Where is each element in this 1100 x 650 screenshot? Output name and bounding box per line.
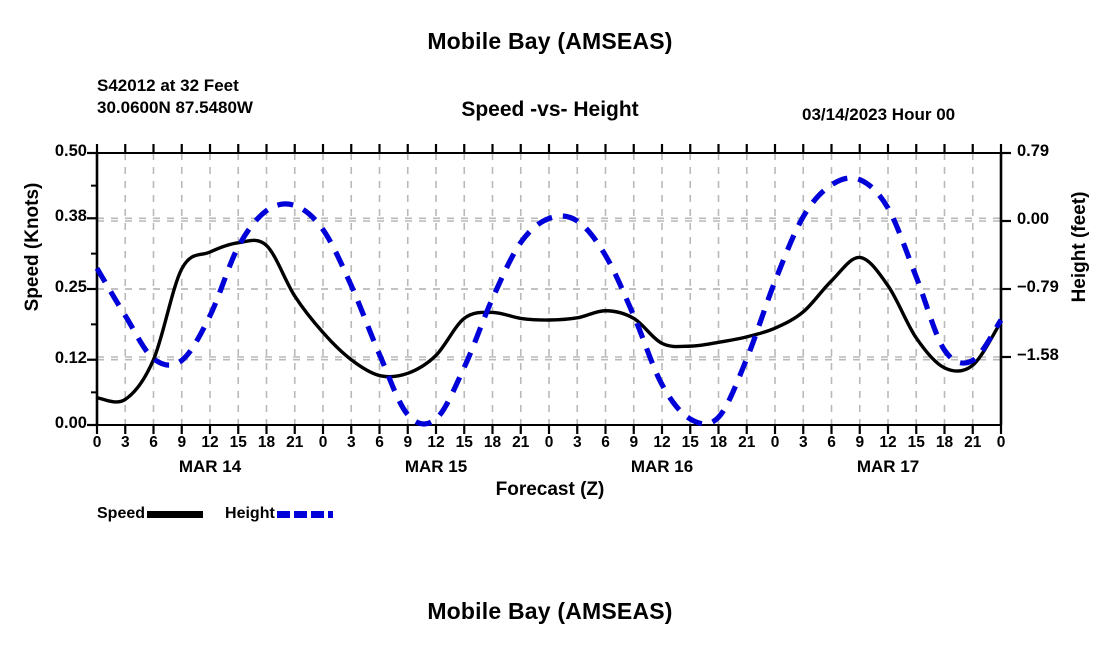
x-axis-tick-label: 18 (478, 434, 508, 452)
y-axis-right-title: Height (feet) (1069, 162, 1091, 332)
y-axis-right-tick-label: 0.00 (1017, 210, 1077, 229)
legend-item-speed: Speed (97, 505, 225, 523)
x-axis-day-label: MAR 15 (366, 457, 506, 477)
legend-swatch-height-icon (277, 511, 333, 518)
x-axis-tick-label: 0 (986, 434, 1016, 452)
x-axis-tick-label: 21 (280, 434, 310, 452)
x-axis-tick-label: 18 (930, 434, 960, 452)
x-axis-tick-label: 18 (704, 434, 734, 452)
x-axis-tick-label: 21 (958, 434, 988, 452)
x-axis-tick-label: 6 (817, 434, 847, 452)
x-axis-tick-label: 21 (506, 434, 536, 452)
x-axis-tick-label: 0 (82, 434, 112, 452)
x-axis-tick-label: 12 (195, 434, 225, 452)
x-axis-tick-label: 15 (675, 434, 705, 452)
legend-item-height: Height (225, 505, 355, 523)
y-axis-right-tick-label: 0.79 (1017, 142, 1077, 161)
x-axis-tick-label: 12 (421, 434, 451, 452)
x-axis-tick-label: 12 (873, 434, 903, 452)
y-axis-left-tick-label: 0.25 (27, 278, 87, 297)
y-axis-left-title: Speed (Knots) (22, 162, 44, 332)
x-axis-day-label: MAR 17 (818, 457, 958, 477)
x-axis-tick-label: 3 (788, 434, 818, 452)
y-axis-left-tick-label: 0.50 (27, 142, 87, 161)
chart-page: Mobile Bay (AMSEAS) S42012 at 32 Feet 30… (0, 0, 1100, 650)
x-axis-tick-label: 3 (336, 434, 366, 452)
page-title-bottom: Mobile Bay (AMSEAS) (0, 598, 1100, 625)
x-axis-tick-label: 0 (534, 434, 564, 452)
x-axis-tick-label: 18 (252, 434, 282, 452)
x-axis-tick-label: 15 (223, 434, 253, 452)
legend-label-speed: Speed (97, 505, 145, 523)
x-axis-tick-label: 6 (139, 434, 169, 452)
chart-svg (0, 0, 1100, 650)
grid-lines (97, 153, 1001, 425)
plot-area (0, 0, 1100, 650)
x-axis-tick-label: 0 (760, 434, 790, 452)
x-axis-tick-label: 15 (901, 434, 931, 452)
x-axis-tick-label: 6 (365, 434, 395, 452)
x-axis-tick-label: 0 (308, 434, 338, 452)
y-axis-right-tick-label: −0.79 (1017, 278, 1077, 297)
y-axis-left-tick-label: 0.38 (27, 207, 87, 226)
x-axis-day-label: MAR 14 (140, 457, 280, 477)
x-axis-tick-label: 12 (647, 434, 677, 452)
x-axis-day-label: MAR 16 (592, 457, 732, 477)
x-axis-tick-label: 15 (449, 434, 479, 452)
x-axis-tick-label: 9 (393, 434, 423, 452)
y-axis-left-tick-label: 0.00 (27, 414, 87, 433)
chart-legend: Speed Height (97, 505, 355, 523)
x-axis-tick-label: 9 (619, 434, 649, 452)
x-axis-tick-label: 21 (732, 434, 762, 452)
x-axis-title: Forecast (Z) (0, 479, 1100, 501)
y-axis-left-tick-label: 0.12 (27, 349, 87, 368)
x-axis-tick-label: 3 (562, 434, 592, 452)
y-axis-right-tick-label: −1.58 (1017, 346, 1077, 365)
legend-swatch-speed-icon (147, 511, 203, 518)
x-axis-tick-label: 9 (167, 434, 197, 452)
x-axis-tick-label: 9 (845, 434, 875, 452)
x-axis-tick-label: 3 (110, 434, 140, 452)
x-axis-tick-label: 6 (591, 434, 621, 452)
legend-label-height: Height (225, 505, 275, 523)
